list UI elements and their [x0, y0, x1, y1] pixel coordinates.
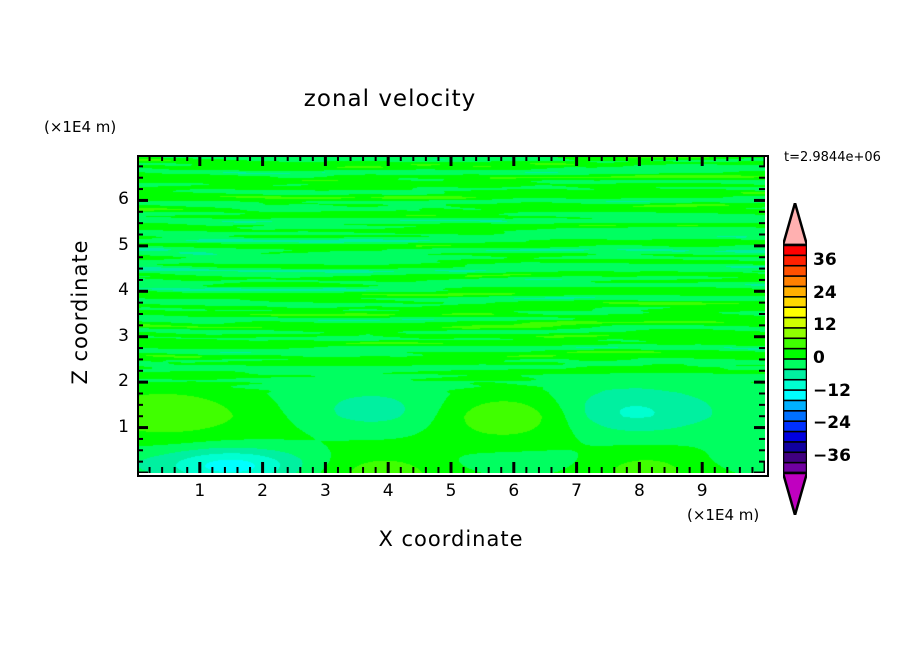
- figure-canvas: zonal velocity (×1E4 m) (×1E4 m) t=2.984…: [0, 0, 904, 654]
- x-tick-label: 9: [690, 481, 714, 501]
- x-tick-label: 2: [251, 481, 275, 501]
- colorbar-tick-label: 12: [813, 315, 837, 335]
- y-tick-label: 1: [103, 417, 129, 437]
- y-axis-unit-label: (×1E4 m): [44, 118, 116, 136]
- colorbar: [783, 203, 807, 515]
- colorbar-tick-label: −12: [813, 381, 851, 401]
- colorbar-tick-label: 36: [813, 250, 837, 270]
- x-tick-label: 4: [376, 481, 400, 501]
- colorbar-tick-label: −36: [813, 446, 851, 466]
- y-tick-label: 6: [103, 189, 129, 209]
- x-tick-label: 6: [502, 481, 526, 501]
- x-tick-label: 3: [313, 481, 337, 501]
- x-axis-title: X coordinate: [137, 527, 765, 551]
- colorbar-swatches: [783, 203, 807, 515]
- y-tick-label: 3: [103, 326, 129, 346]
- axis-ticks: [137, 155, 765, 473]
- y-axis-title: Z coordinate: [68, 212, 92, 412]
- y-tick-label: 2: [103, 371, 129, 391]
- contour-plot-area: [137, 155, 765, 473]
- time-stamp-label: t=2.9844e+06: [784, 150, 881, 165]
- y-tick-label: 5: [103, 235, 129, 255]
- x-tick-label: 1: [188, 481, 212, 501]
- x-axis-unit-label: (×1E4 m): [687, 506, 759, 524]
- y-tick-label: 4: [103, 280, 129, 300]
- x-tick-label: 5: [439, 481, 463, 501]
- colorbar-tick-label: −24: [813, 413, 851, 433]
- x-tick-label: 7: [565, 481, 589, 501]
- page-title: zonal velocity: [0, 86, 780, 112]
- colorbar-tick-label: 24: [813, 283, 837, 303]
- colorbar-tick-label: 0: [813, 348, 825, 368]
- x-tick-label: 8: [627, 481, 651, 501]
